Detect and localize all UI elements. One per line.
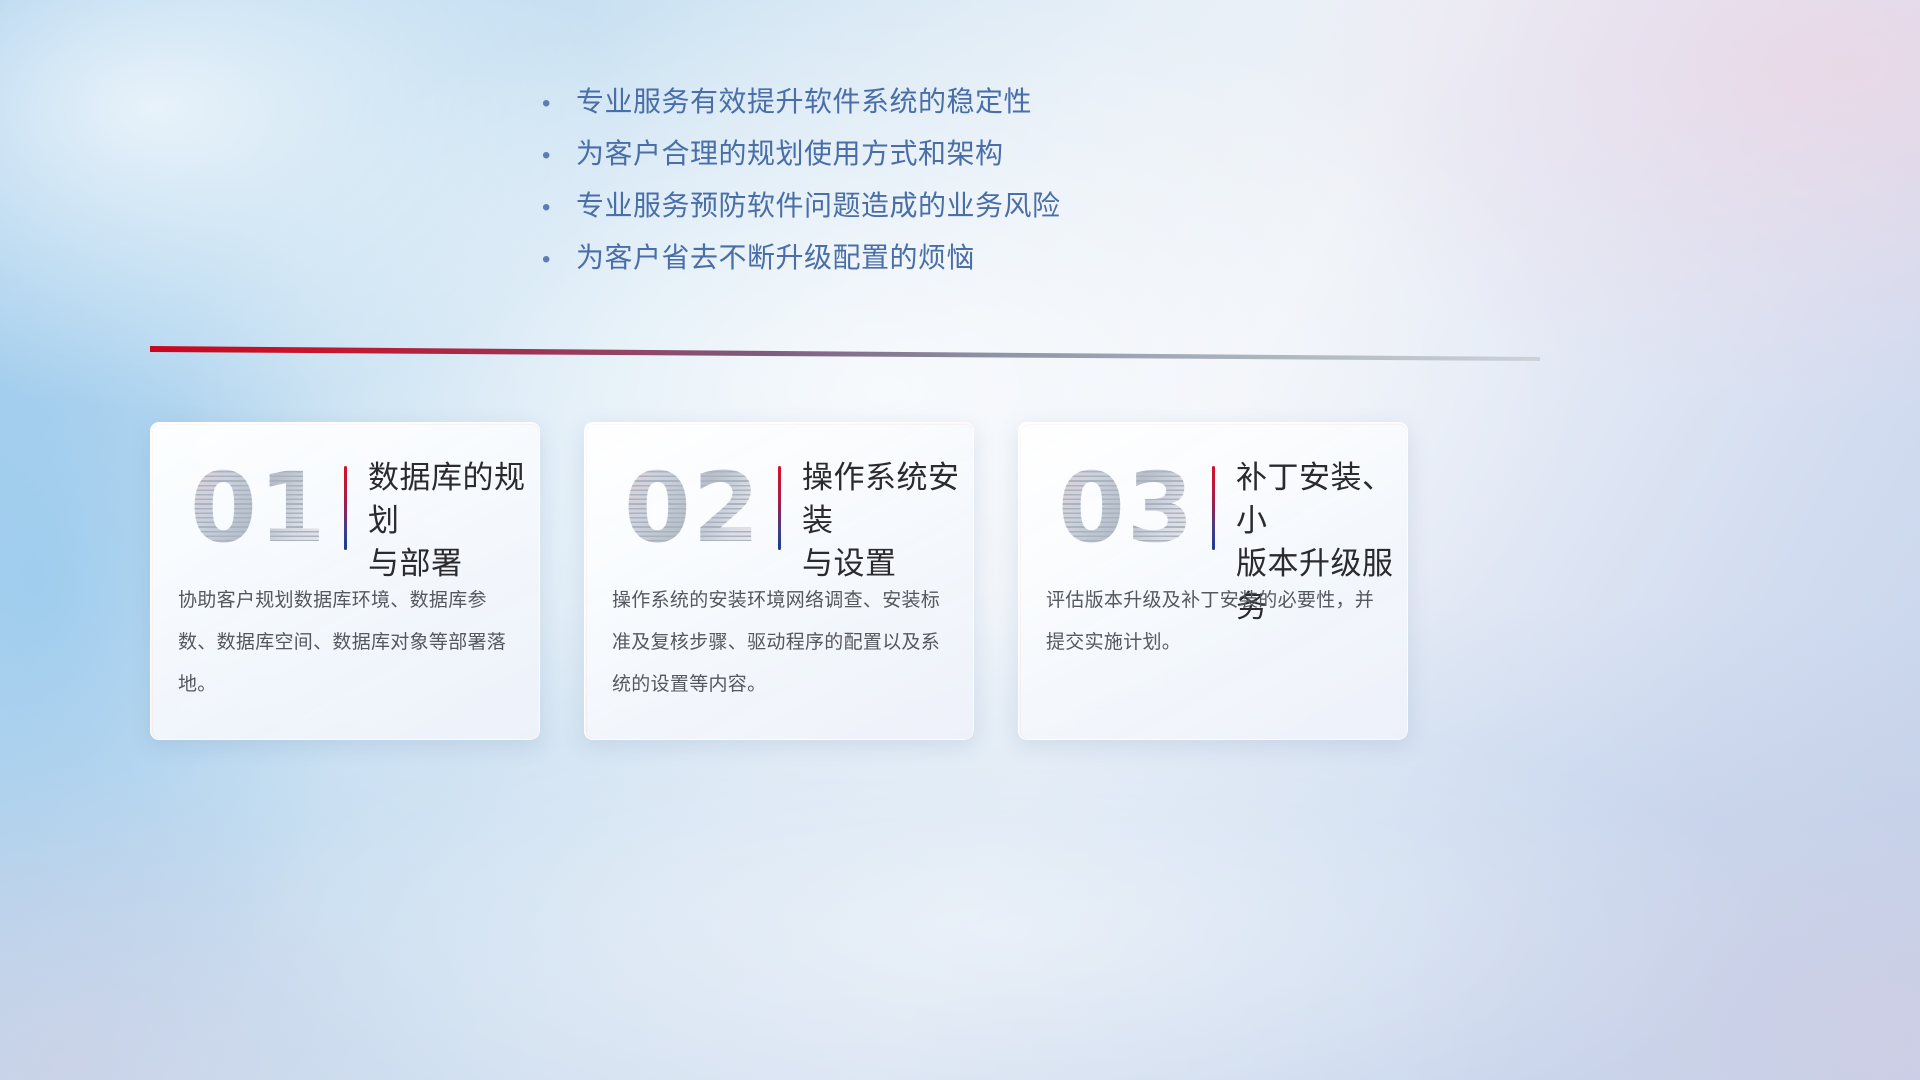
card-number-text: 02 xyxy=(624,456,756,560)
card-title-line: 与设置 xyxy=(802,542,978,585)
card-accent-bar xyxy=(344,466,347,550)
service-card[interactable]: 02 操作系统安装 与设置 操作系统的安装环境网络调查、安装标准及复核步骤、驱动… xyxy=(586,424,974,740)
benefits-bullet-list: • 专业服务有效提升软件系统的稳定性 • 为客户合理的规划使用方式和架构 • 专… xyxy=(536,88,1236,296)
card-description: 协助客户规划数据库环境、数据库参数、数据库空间、数据库对象等部署落地。 xyxy=(178,580,516,706)
card-title-line: 操作系统安装 xyxy=(802,456,978,542)
list-item: • 为客户省去不断升级配置的烦恼 xyxy=(536,244,1236,296)
card-number-watermark: 01 xyxy=(190,456,322,560)
card-header: 02 操作系统安装 与设置 xyxy=(612,450,948,566)
card-title-line: 数据库的规划 xyxy=(368,456,544,542)
card-title: 数据库的规划 与部署 xyxy=(368,456,544,585)
card-header: 01 数据库的规划 与部署 xyxy=(178,450,514,566)
card-number-watermark: 02 xyxy=(624,456,756,560)
card-title-line: 与部署 xyxy=(368,542,544,585)
bullet-text: 为客户省去不断升级配置的烦恼 xyxy=(576,244,975,272)
card-number-watermark: 03 xyxy=(1058,456,1190,560)
card-number-text: 03 xyxy=(1058,456,1190,560)
list-item: • 专业服务预防软件问题造成的业务风险 xyxy=(536,192,1236,244)
bullet-dot-icon: • xyxy=(536,92,576,116)
card-title-line: 补丁安装、小 xyxy=(1236,456,1412,542)
service-card[interactable]: 03 补丁安装、小 版本升级服务 评估版本升级及补丁安装的必要性，并提交实施计划… xyxy=(1020,424,1408,740)
card-accent-bar xyxy=(1212,466,1215,550)
bullet-dot-icon: • xyxy=(536,196,576,220)
service-cards: 01 数据库的规划 与部署 协助客户规划数据库环境、数据库参数、数据库空间、数据… xyxy=(152,424,1408,740)
card-description: 评估版本升级及补丁安装的必要性，并提交实施计划。 xyxy=(1046,580,1384,664)
bullet-dot-icon: • xyxy=(536,144,576,168)
list-item: • 专业服务有效提升软件系统的稳定性 xyxy=(536,88,1236,140)
list-item: • 为客户合理的规划使用方式和架构 xyxy=(536,140,1236,192)
card-header: 03 补丁安装、小 版本升级服务 xyxy=(1046,450,1382,566)
bullet-text: 专业服务预防软件问题造成的业务风险 xyxy=(576,192,1061,220)
card-title: 操作系统安装 与设置 xyxy=(802,456,978,585)
bullet-text: 为客户合理的规划使用方式和架构 xyxy=(576,140,1004,168)
bullet-text: 专业服务有效提升软件系统的稳定性 xyxy=(576,88,1032,116)
card-number-text: 01 xyxy=(190,456,322,560)
card-description: 操作系统的安装环境网络调查、安装标准及复核步骤、驱动程序的配置以及系统的设置等内… xyxy=(612,580,950,706)
bullet-dot-icon: • xyxy=(536,248,576,272)
service-card[interactable]: 01 数据库的规划 与部署 协助客户规划数据库环境、数据库参数、数据库空间、数据… xyxy=(152,424,540,740)
card-accent-bar xyxy=(778,466,781,550)
